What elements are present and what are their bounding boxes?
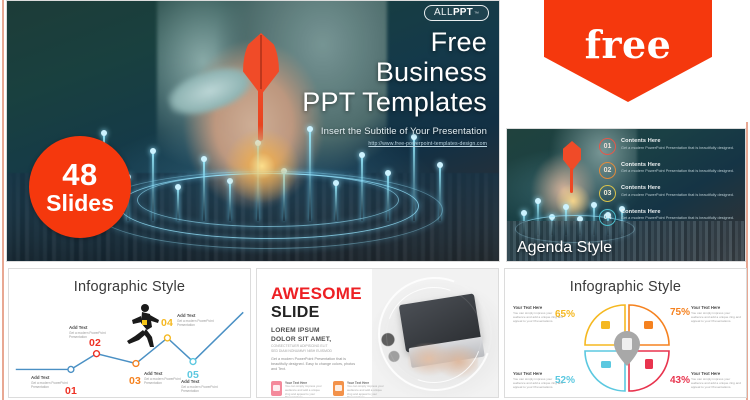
- money-icon: [601, 361, 611, 368]
- agenda-item-number: 04: [599, 209, 616, 226]
- free-ribbon-area: free: [503, 0, 748, 122]
- awesome-subtitle: LOREM IPSUM DOLOR SIT AMET,: [271, 327, 331, 344]
- awesome-card[interactable]: Your Text Here You can simply impress yo…: [271, 381, 323, 398]
- segment-heading: Your Text Here: [513, 305, 565, 310]
- laptop-photo: [372, 269, 498, 398]
- awesome-card-body: You can simply impress your audience and…: [285, 385, 323, 398]
- slide-count-badge: 48 Slides: [29, 136, 131, 238]
- agenda-title: Agenda Style: [517, 239, 612, 257]
- segment-label-bottom-left: Your Text Here You can simply impress yo…: [513, 371, 565, 389]
- awesome-small-line1: CONSECTETUER ADIPISCING ELIT: [271, 344, 332, 349]
- awesome-heading-dark: SLIDE: [271, 304, 320, 322]
- segmented-circle-diagram: [577, 297, 677, 397]
- hero-title-line3: PPT Templates: [227, 87, 487, 117]
- hero-title-line2: Business: [227, 57, 487, 87]
- awesome-heading-red: AWESOME: [271, 284, 362, 304]
- line-point-heading: Add Text: [144, 371, 192, 376]
- agenda-item[interactable]: 03 Contents Here Get a modern PowerPoint…: [599, 185, 739, 202]
- hero-url-link[interactable]: http://www.free-powerpoint-templates-des…: [227, 141, 487, 147]
- segment-body: You can simply impress your audience and…: [513, 311, 565, 323]
- segment-percent: 43%: [670, 375, 690, 386]
- segment-label-top-right: Your Text Here You can simply impress yo…: [691, 305, 743, 323]
- line-point-body: Get a modern PowerPoint Presentation: [177, 319, 225, 327]
- hero-title-line1: Free: [227, 27, 487, 57]
- agenda-item-number: 02: [599, 162, 616, 179]
- document-icon: [333, 381, 344, 396]
- awesome-slide[interactable]: AWESOME SLIDE LOREM IPSUM DOLOR SIT AMET…: [256, 268, 499, 398]
- agenda-item-body: Get a modern PowerPoint Presentation tha…: [621, 146, 734, 151]
- line-point-heading: Add Text: [31, 375, 79, 380]
- calculator-icon: [645, 359, 653, 369]
- agenda-item-number: 03: [599, 185, 616, 202]
- agenda-item-number: 01: [599, 138, 616, 155]
- line-point-heading: Add Text: [177, 313, 225, 318]
- logo-text-all: ALL: [434, 7, 453, 18]
- slide-count-label: Slides: [46, 192, 114, 215]
- awesome-small-text: CONSECTETUER ADIPISCING ELIT SED DIAM NO…: [271, 344, 332, 353]
- infographic-circle-slide[interactable]: Infographic Style 65% Your Text Here You…: [504, 268, 747, 398]
- preview-page: ALL PPT ™ Free Business PPT Templates In…: [0, 0, 750, 400]
- segment-body: You can simply impress your audience and…: [691, 311, 743, 323]
- briefcase-icon: [601, 321, 610, 329]
- line-point-label-05: Add Text Get a modern PowerPoint Present…: [181, 379, 229, 393]
- awesome-card-list: Your Text Here You can simply impress yo…: [271, 381, 385, 398]
- agenda-item[interactable]: 04 Contents Here Get a modern PowerPoint…: [599, 209, 739, 226]
- agenda-dart-icon: [561, 141, 583, 195]
- agenda-item[interactable]: 01 Contents Here Get a modern PowerPoint…: [599, 138, 739, 155]
- free-ribbon-label: free: [585, 22, 672, 67]
- slide-count-number: 48: [62, 159, 97, 190]
- agenda-item-heading: Contents Here: [621, 138, 734, 144]
- awesome-subtitle-line1: LOREM IPSUM: [271, 327, 331, 336]
- document-icon: [271, 381, 282, 396]
- awesome-card[interactable]: Your Text Here You can simply impress yo…: [333, 381, 385, 398]
- segment-label-top-left: Your Text Here You can simply impress yo…: [513, 305, 565, 323]
- line-point-body: Get a modern PowerPoint Presentation: [181, 385, 229, 393]
- awesome-body-text: Get a modern PowerPoint Presentation tha…: [271, 357, 357, 372]
- segment-body: You can simply impress your audience and…: [513, 377, 565, 389]
- agenda-item-heading: Contents Here: [621, 209, 734, 215]
- agenda-slide[interactable]: Agenda Style 01 Contents Here Get a mode…: [506, 128, 746, 262]
- hero-subtitle: Insert the Subtitle of Your Presentation: [227, 126, 487, 137]
- line-point-body: Get a modern PowerPoint Presentation: [69, 331, 117, 339]
- swirl-ring-inner: [372, 271, 498, 398]
- logo-trademark: ™: [474, 11, 479, 17]
- agenda-item-heading: Contents Here: [621, 185, 734, 191]
- agenda-item-body: Get a modern PowerPoint Presentation tha…: [621, 169, 734, 174]
- infographic-circle-title: Infographic Style: [505, 269, 746, 295]
- segment-heading: Your Text Here: [691, 371, 743, 376]
- logo-text-ppt: PPT: [453, 7, 473, 18]
- hero-slide[interactable]: ALL PPT ™ Free Business PPT Templates In…: [6, 0, 500, 262]
- printer-icon: [644, 321, 653, 329]
- line-point-heading: Add Text: [181, 379, 229, 384]
- line-point-label-04: Add Text Get a modern PowerPoint Present…: [177, 313, 225, 327]
- agenda-item-heading: Contents Here: [621, 162, 734, 168]
- infographic-line-slide[interactable]: Infographic Style 01 Add Text Get a mod: [8, 268, 251, 398]
- line-point-label-02: Add Text Get a modern PowerPoint Present…: [69, 325, 117, 339]
- free-ribbon: free: [544, 0, 712, 102]
- awesome-small-line2: SED DIAM NONUMMY NIBH EUISMOD: [271, 349, 332, 354]
- line-point-label-01: Add Text Get a modern PowerPoint Present…: [31, 375, 79, 389]
- segment-label-bottom-right: Your Text Here You can simply impress yo…: [691, 371, 743, 389]
- line-point-number: 03: [129, 375, 141, 387]
- segment-heading: Your Text Here: [513, 371, 565, 376]
- agenda-item-body: Get a modern PowerPoint Presentation tha…: [621, 193, 734, 198]
- agenda-list: 01 Contents Here Get a modern PowerPoint…: [599, 138, 739, 232]
- segment-heading: Your Text Here: [691, 305, 743, 310]
- line-point-heading: Add Text: [69, 325, 117, 330]
- segment-percent: 75%: [670, 307, 690, 318]
- agenda-item-body: Get a modern PowerPoint Presentation tha…: [621, 216, 734, 221]
- running-businessman-icon: [121, 303, 161, 349]
- hero-text-block: Free Business PPT Templates Insert the S…: [227, 27, 487, 147]
- awesome-card-body: You can simply impress your audience and…: [347, 385, 385, 398]
- segment-body: You can simply impress your audience and…: [691, 377, 743, 389]
- page-left-rule: [2, 0, 4, 400]
- allppt-logo: ALL PPT ™: [424, 5, 489, 21]
- line-point-number: 04: [161, 317, 173, 329]
- line-point-body: Get a modern PowerPoint Presentation: [31, 381, 79, 389]
- agenda-item[interactable]: 02 Contents Here Get a modern PowerPoint…: [599, 162, 739, 179]
- awesome-subtitle-line2: DOLOR SIT AMET,: [271, 336, 331, 345]
